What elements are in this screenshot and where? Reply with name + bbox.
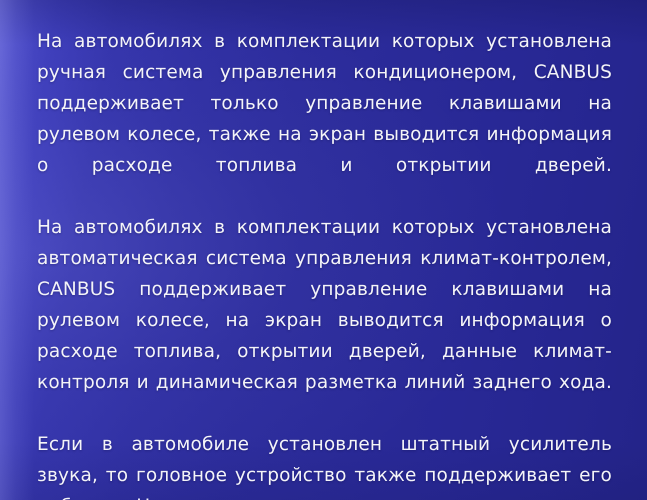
slide-text-block: На автомобилях в комплектации которых ус… — [37, 26, 612, 500]
paragraph-manual-climate: На автомобилях в комплектации которых ус… — [37, 26, 612, 212]
paragraph-amplifier-support: Если в автомобиле установлен штатный уси… — [37, 429, 612, 500]
slide-canvas: На автомобилях в комплектации которых ус… — [0, 0, 647, 500]
paragraph-auto-climate: На автомобилях в комплектации которых ус… — [37, 212, 612, 429]
